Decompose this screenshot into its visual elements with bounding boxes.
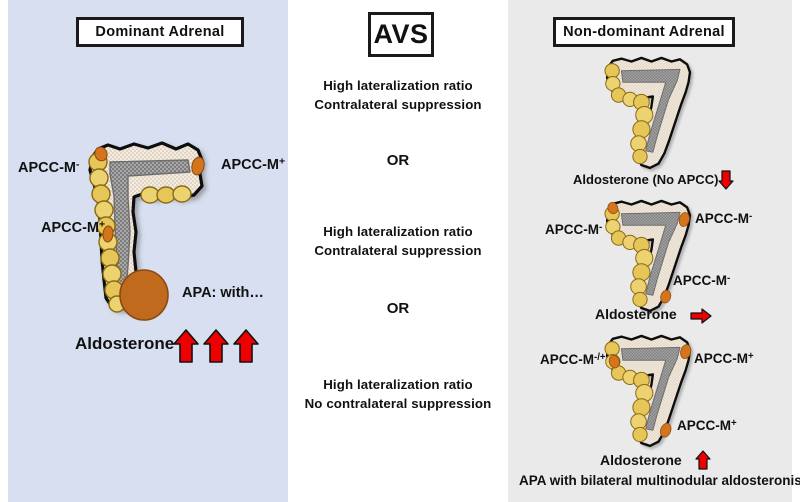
label-apcc-m-mixed-r3-right-lower-text: APCC-M xyxy=(677,418,731,433)
label-apcc-m-positive-right-text: APCC-M xyxy=(221,157,279,173)
label-aldosterone-apcc-negative: Aldosterone xyxy=(595,306,677,322)
avs-criteria-2-line-1: High lateralization ratio xyxy=(288,222,508,241)
avs-criteria-1-line-1: High lateralization ratio xyxy=(288,76,508,95)
label-apcc-m-negative-r2-right-upper-sup: - xyxy=(749,211,752,222)
avs-criteria-2-line-2: Contralateral suppression xyxy=(288,241,508,260)
avs-criteria-block-2: High lateralization ratio Contralateral … xyxy=(288,222,508,260)
adrenal-gland-apcc-mixed xyxy=(600,333,700,451)
label-aldosterone-apcc-mixed: Aldosterone xyxy=(600,452,682,468)
arrow-up-icon-1 xyxy=(174,330,198,362)
label-apcc-m-negative-left-text: APCC-M xyxy=(18,160,76,176)
label-apcc-m-positive-lower: APCC-M+ xyxy=(41,220,105,236)
label-apcc-m-mixed-r3-right-lower: APCC-M+ xyxy=(677,418,737,433)
label-apcc-m-mixed-r3-left-sup: -/+ xyxy=(594,352,606,363)
label-apcc-m-positive-lower-text: APCC-M xyxy=(41,220,99,236)
apa-adenoma xyxy=(120,270,168,320)
adrenal-gland-apcc-negative xyxy=(600,198,700,316)
avs-connector-or-1: OR xyxy=(288,152,508,169)
arrow-right-icon xyxy=(691,309,711,323)
label-apcc-m-negative-left: APCC-M- xyxy=(18,160,79,176)
arrow-up-aldosterone-mixed xyxy=(695,450,711,470)
label-aldosterone-no-apcc: Aldosterone (No APCC) xyxy=(573,172,718,187)
arrow-down-icon xyxy=(719,171,733,189)
label-apcc-m-mixed-r3-right-upper-text: APCC-M xyxy=(694,351,748,366)
avs-criteria-block-3: High lateralization ratio No contralater… xyxy=(288,375,508,413)
label-apcc-m-positive-right: APCC-M+ xyxy=(221,157,285,173)
arrow-down-aldosterone xyxy=(718,170,734,190)
label-apcc-m-mixed-r3-left-text: APCC-M xyxy=(540,352,594,367)
title-avs: AVS xyxy=(368,12,434,57)
label-apcc-m-positive-right-sup: + xyxy=(279,157,285,168)
label-apcc-m-negative-left-sup: - xyxy=(76,160,79,171)
title-dominant-adrenal: Dominant Adrenal xyxy=(76,17,244,47)
label-apcc-m-mixed-r3-left: APCC-M-/+ xyxy=(540,352,606,367)
arrow-right-aldosterone xyxy=(690,308,712,324)
title-non-dominant-adrenal: Non-dominant Adrenal xyxy=(553,17,735,47)
label-apcc-m-negative-r2-left: APCC-M- xyxy=(545,222,602,237)
label-apcc-m-mixed-r3-right-upper-sup: + xyxy=(748,351,754,362)
caption-apa-bilateral-multinodular: APA with bilateral multinodular aldoster… xyxy=(519,473,800,488)
label-apa: APA: with… xyxy=(182,285,264,301)
avs-connector-or-2: OR xyxy=(288,300,508,317)
label-aldosterone-dominant: Aldosterone xyxy=(75,334,174,354)
label-apcc-m-negative-r2-left-text: APCC-M xyxy=(545,222,599,237)
label-apcc-m-negative-r2-right-upper: APCC-M- xyxy=(695,211,752,226)
arrow-up-icon xyxy=(696,451,710,469)
adrenal-gland-no-apcc xyxy=(600,55,700,173)
label-apcc-m-negative-r2-left-sup: - xyxy=(599,222,602,233)
label-apcc-m-negative-r2-right-lower-text: APCC-M xyxy=(673,273,727,288)
figure-canvas: Dominant Adrenal AVS Non-dominant Adrena… xyxy=(0,0,800,502)
avs-criteria-3-line-1: High lateralization ratio xyxy=(288,375,508,394)
label-apcc-m-negative-r2-right-upper-text: APCC-M xyxy=(695,211,749,226)
label-apcc-m-mixed-r3-right-lower-sup: + xyxy=(731,418,737,429)
label-apcc-m-negative-r2-right-lower-sup: - xyxy=(727,273,730,284)
arrow-up-triple-aldosterone xyxy=(172,328,260,364)
avs-criteria-block-1: High lateralization ratio Contralateral … xyxy=(288,76,508,114)
arrow-up-icon-3 xyxy=(234,330,258,362)
label-apcc-m-positive-lower-sup: + xyxy=(99,220,105,231)
avs-criteria-3-line-2: No contralateral suppression xyxy=(288,394,508,413)
label-apcc-m-mixed-r3-right-upper: APCC-M+ xyxy=(694,351,754,366)
arrow-up-icon-2 xyxy=(204,330,228,362)
avs-criteria-1-line-2: Contralateral suppression xyxy=(288,95,508,114)
label-apcc-m-negative-r2-right-lower: APCC-M- xyxy=(673,273,730,288)
